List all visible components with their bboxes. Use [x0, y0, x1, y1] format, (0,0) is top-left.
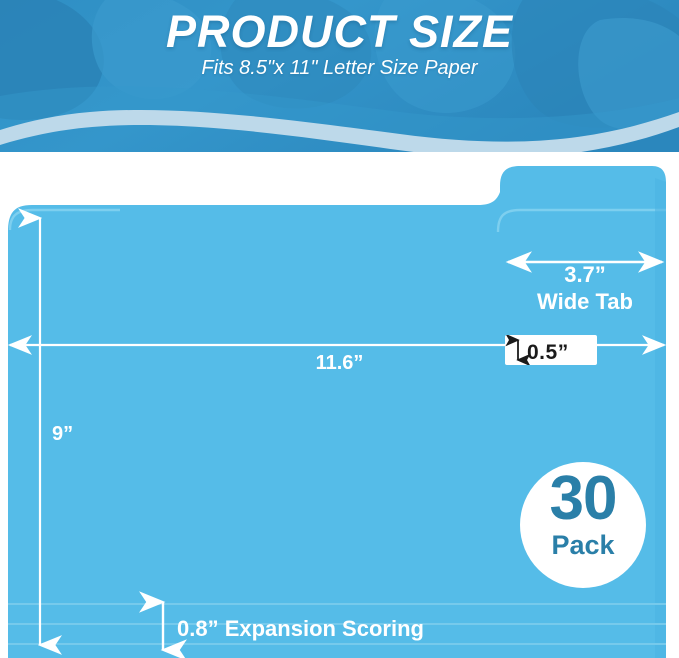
page-title: PRODUCT SIZE — [0, 8, 679, 55]
folder-height-label: 9” — [52, 423, 73, 446]
expansion-scoring-label: 0.8” Expansion Scoring — [177, 616, 424, 642]
pack-count-unit: Pack — [520, 532, 646, 559]
page-subtitle: Fits 8.5"x 11" Letter Size Paper — [0, 57, 679, 80]
tab-width-label: 3.7” — [505, 262, 665, 288]
product-size-infographic: PRODUCT SIZE Fits 8.5"x 11" Letter Size … — [0, 0, 679, 658]
header-banner: PRODUCT SIZE Fits 8.5"x 11" Letter Size … — [0, 0, 679, 152]
folder-width-label: 11.6” — [0, 352, 679, 375]
tab-width-caption: Wide Tab — [505, 289, 665, 315]
pack-count-number: 30 — [520, 468, 646, 530]
folder-right-shade — [655, 178, 666, 658]
pack-count-badge: 30 Pack — [520, 462, 646, 588]
